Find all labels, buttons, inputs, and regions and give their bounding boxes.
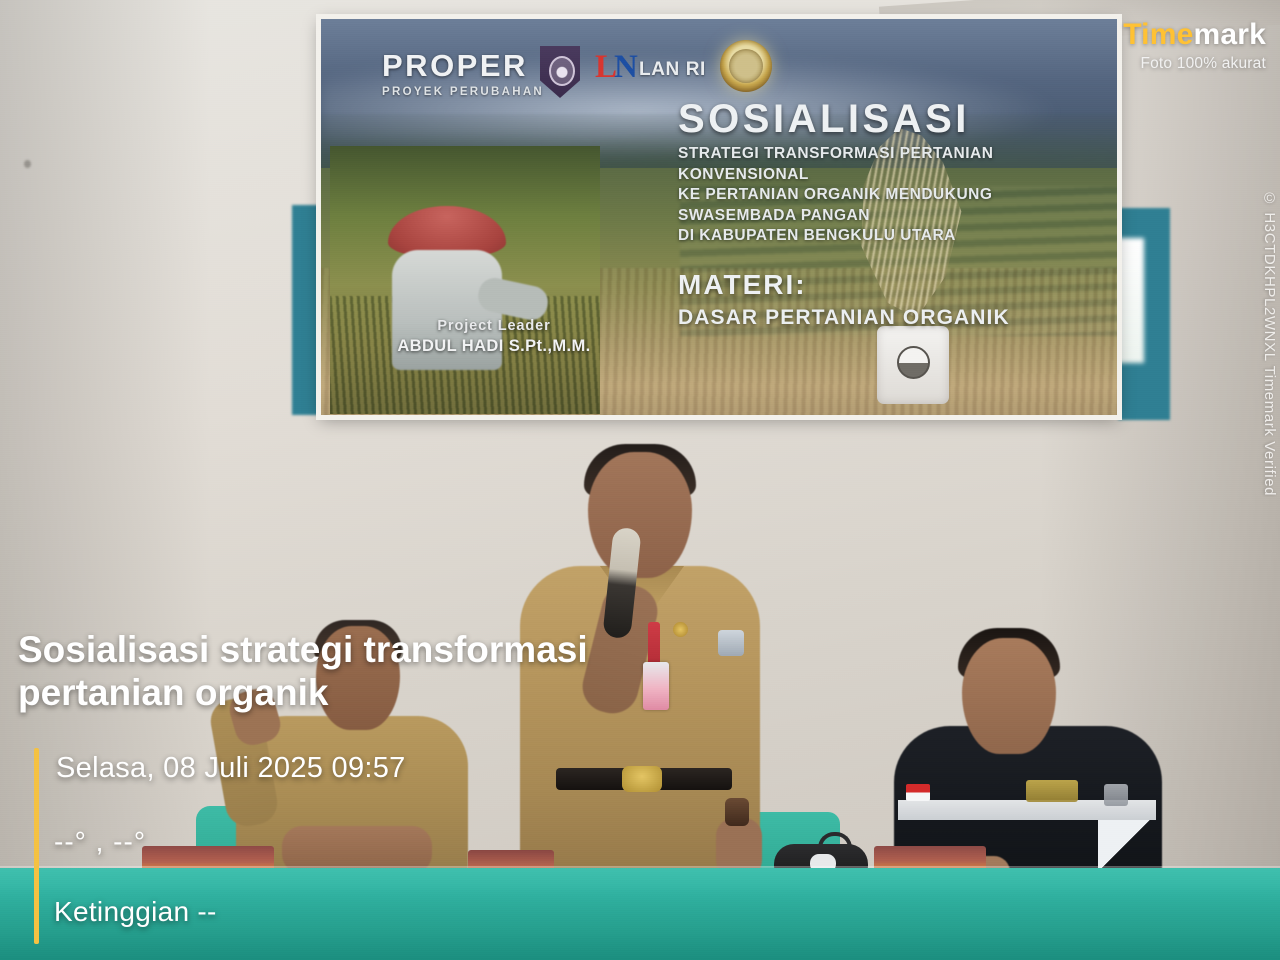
rice-sack	[877, 326, 949, 404]
overlay-coordinates: --° , --°	[54, 826, 146, 858]
proper-title: PROPER	[382, 48, 544, 84]
overlay-title: Sosialisasi strategi transformasi pertan…	[18, 628, 638, 715]
lan-letter-n-icon: N	[614, 51, 638, 84]
person-center-head	[588, 452, 692, 578]
uniform-shoulder-patch	[1104, 784, 1128, 806]
timemark-brand: Timemark	[1123, 18, 1266, 52]
wristwatch-icon	[725, 798, 749, 826]
indonesia-flag-patch-icon	[906, 784, 930, 801]
proper-logo-block: PROPER PROYEK PERUBAHAN	[382, 48, 544, 98]
banner-headline: SOSIALISASI	[678, 98, 1088, 140]
overlay-accent-bar	[34, 748, 39, 944]
banner-sub-line-1: STRATEGI TRANSFORMASI PERTANIAN	[678, 144, 1088, 165]
wall-blemish	[24, 160, 31, 168]
timemark-brand-suffix: mark	[1193, 18, 1266, 51]
banner-leader-name: ABDUL HADI S.Pt.,M.M.	[364, 337, 624, 356]
timemark-watermark: Timemark Foto 100% akurat	[1123, 18, 1266, 73]
banner-sub-line-2: KONVENSIONAL	[678, 165, 1088, 186]
wall-shadow-left	[0, 0, 210, 960]
banner-subheadline: STRATEGI TRANSFORMASI PERTANIAN KONVENSI…	[678, 144, 1088, 247]
person-right-head	[962, 638, 1056, 754]
overlay-datetime: Selasa, 08 Juli 2025 09:57	[56, 752, 406, 785]
backdrop-highlight-right	[1116, 238, 1144, 363]
banner-materi-value: DASAR PERTANIAN ORGANIK	[678, 306, 1088, 330]
timemark-tagline: Foto 100% akurat	[1123, 55, 1266, 73]
shoulder-emblem	[718, 630, 744, 656]
banner-text-block: SOSIALISASI STRATEGI TRANSFORMASI PERTAN…	[678, 98, 1088, 330]
banner-sub-line-5: DI KABUPATEN BENGKULU UTARA	[678, 226, 1088, 247]
uniform-chest-patch	[1026, 780, 1078, 802]
uniform-pin-icon	[673, 622, 688, 637]
gold-emblem-icon	[720, 40, 772, 92]
banner-farmer-photo	[330, 146, 600, 414]
sack-logo-icon	[897, 346, 930, 379]
banner-sub-line-4: SWASEMBADA PANGAN	[678, 206, 1088, 227]
belt-buckle	[622, 766, 662, 792]
proper-subtitle: PROYEK PERUBAHAN	[382, 86, 544, 98]
banner-leader-role: Project Leader	[364, 318, 624, 334]
banner-sub-line-3: KE PERTANIAN ORGANIK MENDUKUNG	[678, 185, 1088, 206]
photo-canvas: PROPER PROYEK PERUBAHAN L N LAN RI SOSIA…	[0, 0, 1280, 960]
banner-leader-block: Project Leader ABDUL HADI S.Pt.,M.M.	[364, 318, 624, 356]
id-badge	[643, 662, 669, 710]
lan-ri-logo: L N LAN RI	[595, 50, 715, 88]
timemark-brand-prefix: Time	[1123, 18, 1193, 51]
overlay-altitude: Ketinggian --	[54, 896, 217, 928]
lan-ri-label: LAN RI	[639, 59, 706, 81]
banner-materi-label: MATERI:	[678, 269, 1088, 301]
event-banner: PROPER PROYEK PERUBAHAN L N LAN RI SOSIA…	[320, 18, 1118, 416]
timemark-verified-vertical: © H3CTDKHPL2WNXL Timemark Verified	[1261, 190, 1278, 496]
